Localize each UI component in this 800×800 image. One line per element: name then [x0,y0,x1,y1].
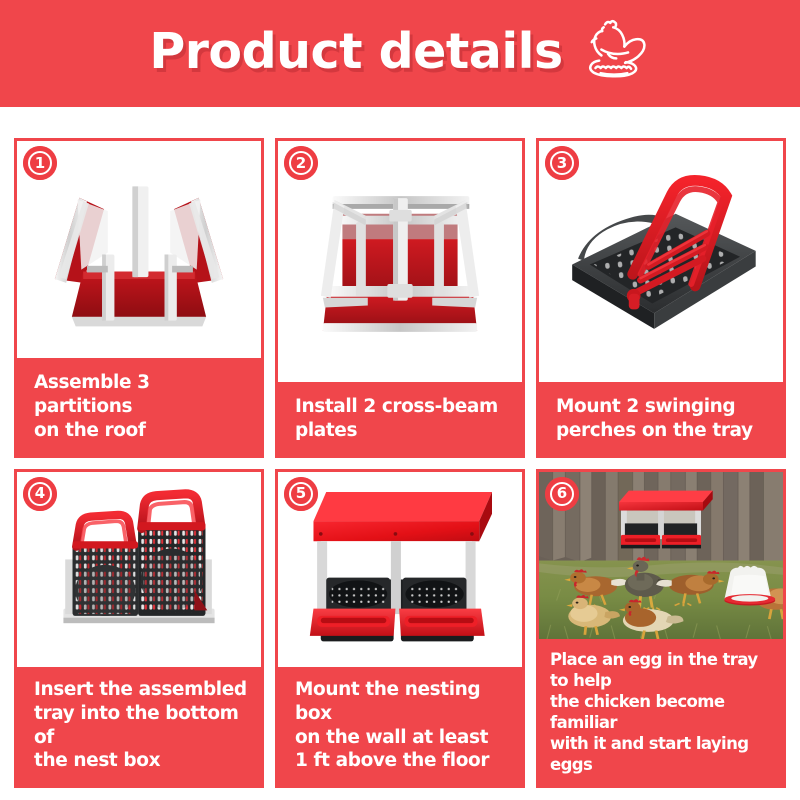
nest-box-frame-with-cross-beams-illustration [278,141,522,382]
step-card-3[interactable]: 3 [536,138,786,458]
hen-on-nest-icon [577,14,651,88]
steps-grid: 1 [14,138,786,788]
step-number-6: 6 [550,482,574,506]
step-image-2 [278,141,522,382]
step-caption-4: Insert the assembled tray into the botto… [17,667,261,785]
step-card-1[interactable]: 1 [14,138,264,458]
step-caption-6: Place an egg in the tray to help the chi… [539,639,783,785]
page-title: Product details [149,27,562,76]
nest-box-roof-with-partitions-illustration [17,141,261,358]
step-caption-3: Mount 2 swinging perches on the tray [539,382,783,454]
step-caption-2: Install 2 cross-beam plates [278,382,522,454]
step-image-3 [539,141,783,382]
step-number-3: 3 [550,151,574,175]
header-banner: Product details [0,0,800,107]
step-number-badge-4: 4 [23,477,57,511]
step-number-5: 5 [289,482,313,506]
step-card-4[interactable]: 4 [14,469,264,789]
step-caption-5: Mount the nesting box on the wall at lea… [278,667,522,785]
step-number-4: 4 [28,482,52,506]
black-tray-with-red-perch-illustration [539,141,783,382]
step-card-5[interactable]: 5 [275,469,525,789]
step-number-1: 1 [28,151,52,175]
product-details-infographic: Product details 1 [0,0,800,800]
step-number-badge-2: 2 [284,146,318,180]
step-card-2[interactable]: 2 [275,138,525,458]
step-number-badge-3: 3 [545,146,579,180]
step-number-2: 2 [289,151,313,175]
step-number-badge-1: 1 [23,146,57,180]
step-number-badge-5: 5 [284,477,318,511]
step-image-1 [17,141,261,358]
step-number-badge-6: 6 [545,477,579,511]
step-caption-1: Assemble 3 partitions on the roof [17,358,261,454]
step-card-6[interactable]: 6 [536,469,786,789]
